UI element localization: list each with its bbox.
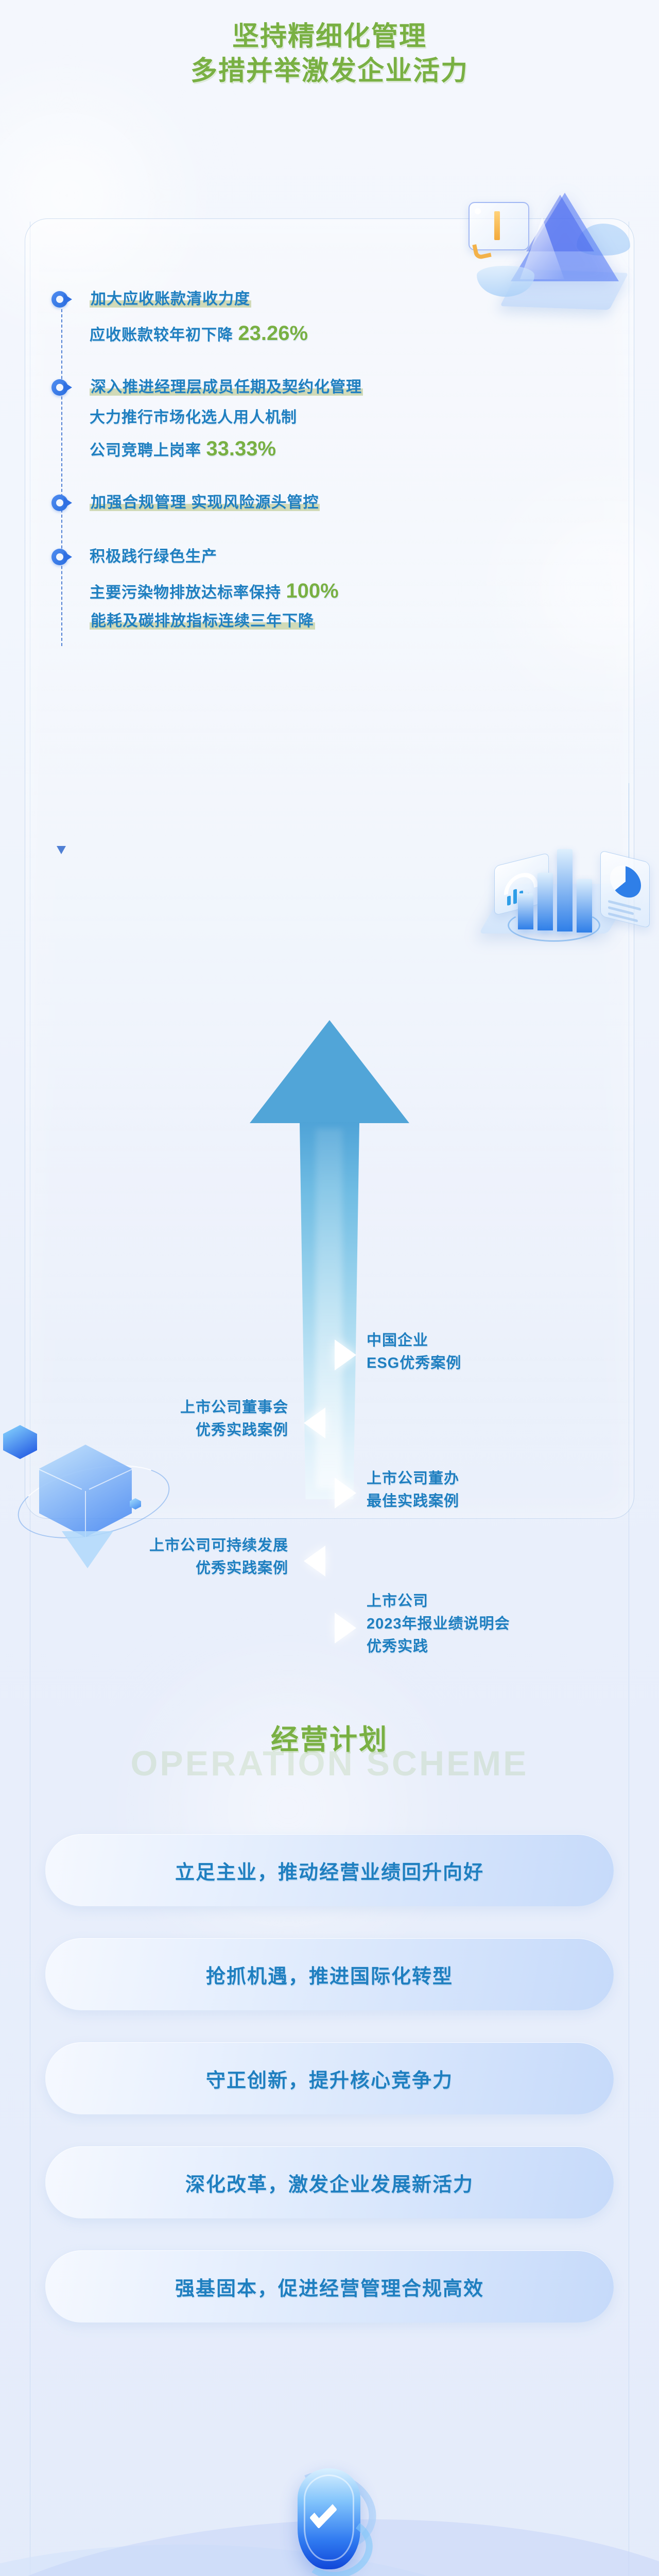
plan-list: 立足主业，推动经营业绩回升向好 抢抓机遇，推进国际化转型 守正创新，提升核心竞争… [0, 1834, 659, 2354]
arrow-bullet-icon [51, 379, 74, 396]
chevron-left-icon [304, 1546, 325, 1577]
glass-cube-icon [0, 1391, 185, 1546]
page-title-line-1: 坚持精细化管理 [0, 20, 659, 54]
chart-stem [629, 783, 630, 858]
plan-item-label: 立足主业，推动经营业绩回升向好 [175, 1856, 484, 1885]
plan-item-label: 强基固本，促进经营管理合规高效 [175, 2273, 484, 2301]
glass-bar-chart-cluster-icon [447, 783, 653, 953]
check-shield-icon [278, 2457, 381, 2576]
timeline-item-line: 能耗及碳排放指标连续三年下降 [90, 611, 546, 633]
timeline-item-line: 大力推行市场化选人用人机制 [90, 407, 546, 429]
card-dot [475, 208, 481, 214]
metric-value: 100% [286, 580, 338, 602]
timeline-item-line: 主要污染物排放达标率保持 100% [90, 577, 546, 606]
mini-chart-card-icon [469, 202, 529, 250]
metric-value: 23.26% [238, 322, 308, 345]
plan-item[interactable]: 立足主业，推动经营业绩回升向好 [45, 1834, 614, 1906]
chevron-right-icon [335, 1613, 356, 1643]
section-title: 经营计划 [271, 1717, 388, 1757]
infographic-page: 坚持精细化管理 多措并举激发企业活力 加大应收账款清收力度 应收账款 [0, 0, 659, 2576]
timeline-item-heading: 加大应收账款清收力度 [90, 289, 546, 311]
metric-value: 33.33% [206, 437, 276, 460]
arrow-bullet-icon [51, 291, 74, 308]
cube-small [3, 1425, 37, 1459]
plan-item-label: 深化改革，激发企业发展新活力 [185, 2168, 474, 2197]
timeline-item-heading: 深入推进经理层成员任期及契约化管理 [90, 377, 546, 399]
arrow-bullet-icon [51, 494, 74, 512]
timeline-arrow-end-icon [57, 846, 66, 854]
timeline-item: 加大应收账款清收力度 应收账款较年初下降 23.26% [51, 289, 546, 348]
page-footer [0, 2391, 659, 2576]
timeline-item-heading: 加强合规管理 实现风险源头管控 [90, 492, 546, 514]
card-bar [494, 211, 500, 240]
timeline-item-heading: 积极践行绿色生产 [90, 546, 546, 568]
timeline-item: 积极践行绿色生产 主要污染物排放达标率保持 100% 能耗及碳排放指标连续三年下… [51, 546, 546, 633]
award-label-right-3: 上市公司 2023年报业绩说明会 优秀实践 [367, 1590, 573, 1658]
award-label-right-2: 上市公司董办 最佳实践案例 [367, 1467, 536, 1513]
plan-item-label: 抢抓机遇，推进国际化转型 [206, 1960, 453, 1989]
arrow-fade [250, 1017, 409, 1120]
plan-item[interactable]: 抢抓机遇，推进国际化转型 [45, 1938, 614, 2010]
cube-seams [39, 1445, 132, 1537]
plan-item[interactable]: 守正创新，提升核心竞争力 [45, 2042, 614, 2114]
operation-scheme-section: OPERATION SCHEME 经营计划 [0, 1700, 659, 1819]
cube-arrow-down-icon [62, 1531, 113, 1568]
hook-icon [472, 242, 492, 260]
timeline-item-line: 应收账款较年初下降 23.26% [90, 319, 546, 348]
chevron-right-icon [335, 1340, 356, 1370]
timeline-item-line: 公司竞聘上岗率 33.33% [90, 434, 546, 464]
award-label-right-1: 中国企业 ESG优秀案例 [367, 1329, 536, 1375]
orbit-ring [508, 909, 600, 942]
page-header: 坚持精细化管理 多措并举激发企业活力 [0, 0, 659, 88]
page-title-line-2: 多措并举激发企业活力 [0, 54, 659, 89]
pie-card-icon [600, 850, 650, 928]
timeline-item: 加强合规管理 实现风险源头管控 [51, 492, 546, 514]
plan-item[interactable]: 深化改革，激发企业发展新活力 [45, 2146, 614, 2218]
timeline: 加大应收账款清收力度 应收账款较年初下降 23.26% 深入推进经理层成员任期及… [51, 289, 546, 638]
chevron-left-icon [304, 1408, 325, 1438]
chevron-right-icon [335, 1478, 356, 1509]
timeline-item: 深入推进经理层成员任期及契约化管理 大力推行市场化选人用人机制 公司竞聘上岗率 … [51, 377, 546, 463]
plan-item-label: 守正创新，提升核心竞争力 [206, 2064, 453, 2093]
plan-item[interactable]: 强基固本，促进经营管理合规高效 [45, 2250, 614, 2323]
arrow-bullet-icon [51, 548, 74, 566]
